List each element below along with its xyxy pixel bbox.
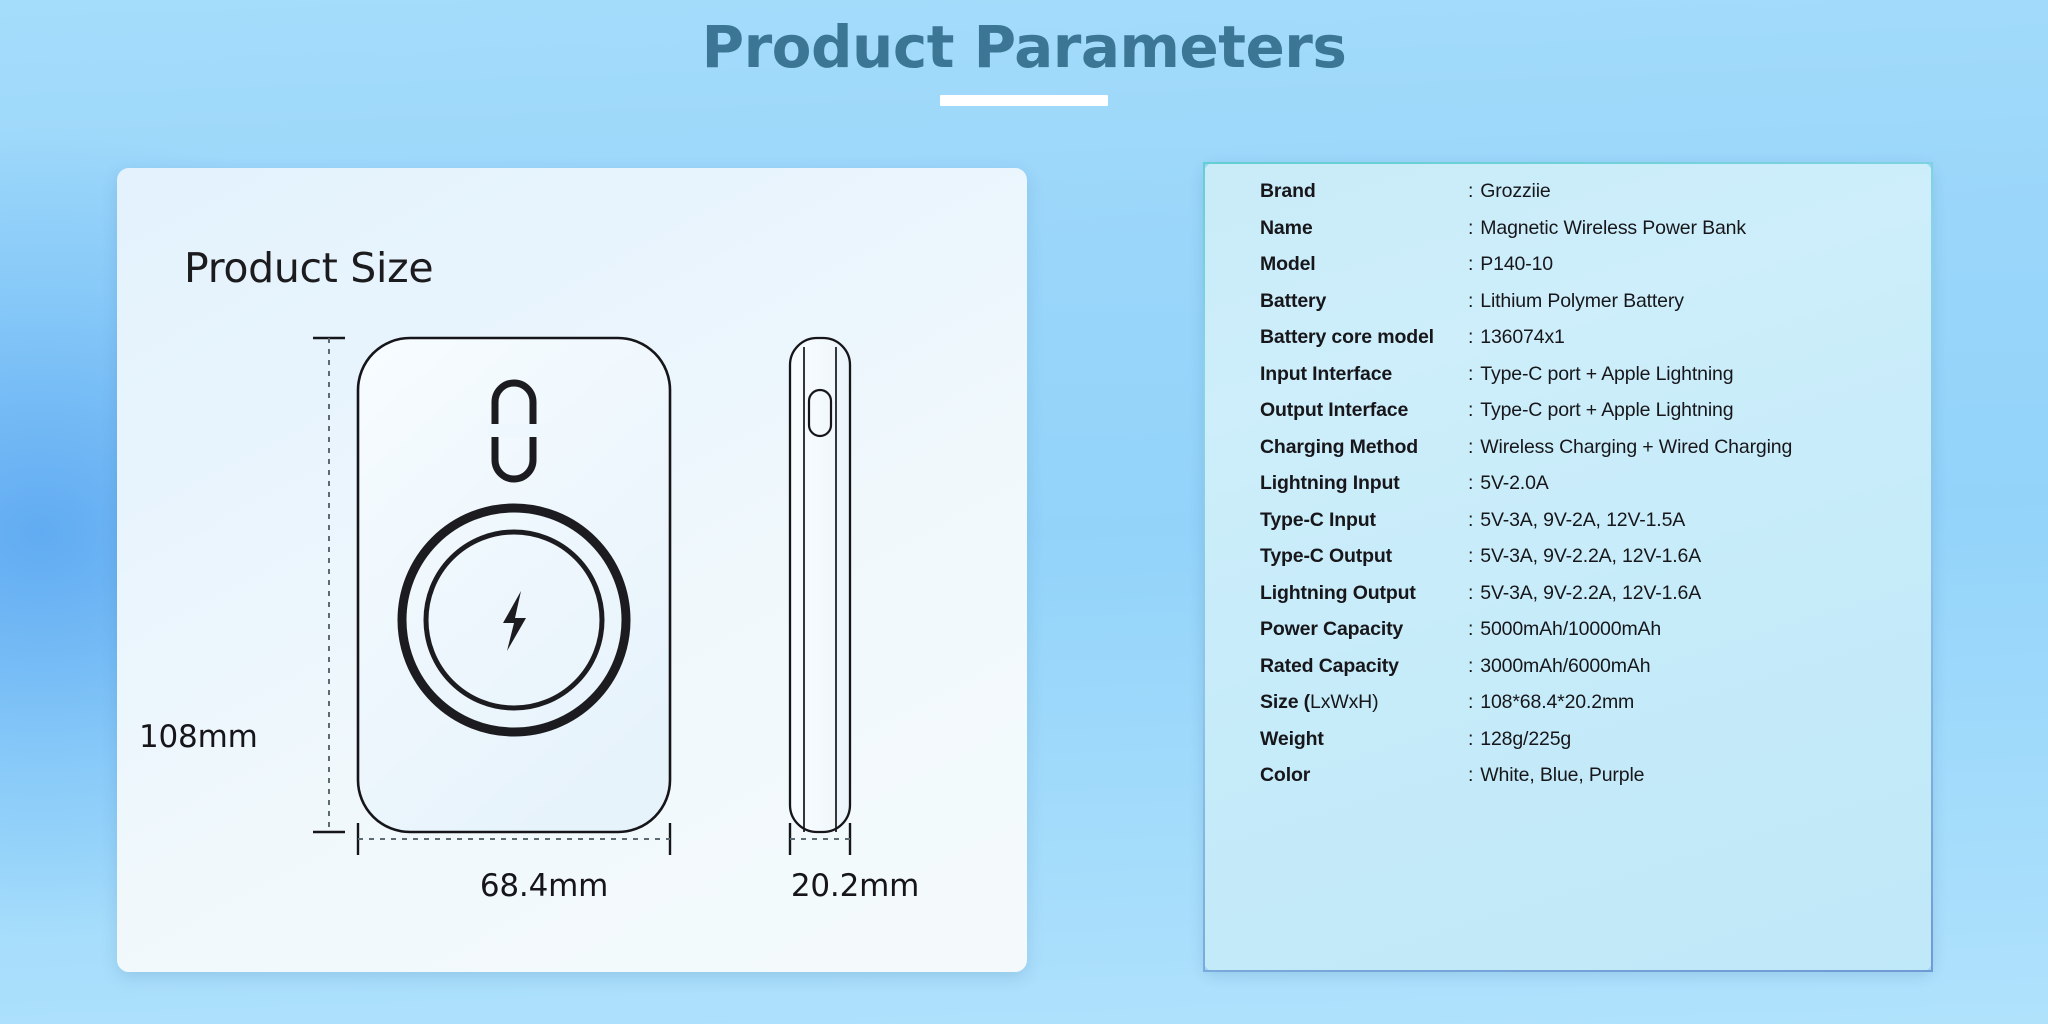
parameter-value-text: 5V-3A, 9V-2.2A, 12V-1.6A — [1480, 582, 1701, 604]
parameter-separator: : — [1468, 691, 1473, 713]
parameter-value-text: 128g/225g — [1480, 728, 1571, 750]
parameter-separator: : — [1468, 253, 1473, 275]
parameter-label: Brand — [1260, 180, 1468, 203]
parameter-separator: : — [1468, 472, 1473, 494]
parameter-row: Output Interface:Type-C port + Apple Lig… — [1260, 399, 1920, 436]
parameter-row: Weight:128g/225g — [1260, 728, 1920, 765]
parameter-label: Output Interface — [1260, 399, 1468, 422]
power-bank-side-view — [790, 338, 850, 832]
parameter-separator: : — [1468, 363, 1473, 385]
parameter-separator: : — [1468, 582, 1473, 604]
parameter-label: Battery — [1260, 290, 1468, 313]
parameter-label: Weight — [1260, 728, 1468, 751]
power-bank-front-view — [358, 338, 670, 832]
product-size-diagram — [117, 168, 1027, 972]
parameter-separator: : — [1468, 618, 1473, 640]
product-size-card: Product Size — [117, 168, 1027, 972]
parameter-row: Size (LxWxH):108*68.4*20.2mm — [1260, 691, 1920, 728]
parameter-separator: : — [1468, 545, 1473, 567]
parameter-value: :Magnetic Wireless Power Bank — [1468, 217, 1746, 240]
parameter-separator: : — [1468, 290, 1473, 312]
parameter-row: Type-C Output:5V-3A, 9V-2.2A, 12V-1.6A — [1260, 545, 1920, 582]
parameter-value: :5V-3A, 9V-2A, 12V-1.5A — [1468, 509, 1685, 532]
parameter-row: Rated Capacity:3000mAh/6000mAh — [1260, 655, 1920, 692]
parameter-value-text: 5V-3A, 9V-2.2A, 12V-1.6A — [1480, 545, 1701, 567]
parameter-row: Battery core model:136074x1 — [1260, 326, 1920, 363]
parameter-label: Battery core model — [1260, 326, 1468, 349]
parameter-separator: : — [1468, 655, 1473, 677]
depth-dimension-label: 20.2mm — [764, 868, 946, 904]
parameter-separator: : — [1468, 764, 1473, 786]
parameter-separator: : — [1468, 728, 1473, 750]
parameter-label-suffix: LxWxH) — [1310, 691, 1378, 713]
parameter-value: :Type-C port + Apple Lightning — [1468, 399, 1733, 422]
height-dimension-label: 108mm — [139, 719, 258, 755]
parameter-separator: : — [1468, 217, 1473, 239]
parameter-row: Input Interface:Type-C port + Apple Ligh… — [1260, 363, 1920, 400]
parameter-value-text: 5000mAh/10000mAh — [1480, 618, 1661, 640]
parameter-value: :Grozziie — [1468, 180, 1551, 203]
parameter-row: Lightning Input:5V-2.0A — [1260, 472, 1920, 509]
parameter-row: Color:White, Blue, Purple — [1260, 764, 1920, 801]
parameter-label: Lightning Output — [1260, 582, 1468, 605]
parameter-value-text: Lithium Polymer Battery — [1480, 290, 1684, 312]
parameter-value: :P140-10 — [1468, 253, 1553, 276]
parameter-value: :108*68.4*20.2mm — [1468, 691, 1634, 714]
parameter-value-text: 108*68.4*20.2mm — [1480, 691, 1634, 713]
parameter-row: Brand:Grozziie — [1260, 180, 1920, 217]
parameter-value-text: Type-C port + Apple Lightning — [1480, 363, 1733, 385]
parameter-value: :Lithium Polymer Battery — [1468, 290, 1684, 313]
parameter-label: Lightning Input — [1260, 472, 1468, 495]
parameter-label: Model — [1260, 253, 1468, 276]
parameter-value-text: P140-10 — [1480, 253, 1553, 275]
parameter-value: :Wireless Charging + Wired Charging — [1468, 436, 1792, 459]
parameter-value-text: Type-C port + Apple Lightning — [1480, 399, 1733, 421]
parameter-row: Type-C Input:5V-3A, 9V-2A, 12V-1.5A — [1260, 509, 1920, 546]
parameter-label: Charging Method — [1260, 436, 1468, 459]
parameter-label: Power Capacity — [1260, 618, 1468, 641]
parameter-row: Lightning Output:5V-3A, 9V-2.2A, 12V-1.6… — [1260, 582, 1920, 619]
parameter-label: Input Interface — [1260, 363, 1468, 386]
parameter-row: Model:P140-10 — [1260, 253, 1920, 290]
parameter-value-text: 136074x1 — [1480, 326, 1564, 348]
product-parameters-card: Brand:GrozziieName:Magnetic Wireless Pow… — [1203, 162, 1933, 972]
page-header: Product Parameters — [0, 14, 2048, 106]
parameter-value: :5V-3A, 9V-2.2A, 12V-1.6A — [1468, 545, 1701, 568]
parameter-value: :White, Blue, Purple — [1468, 764, 1644, 787]
parameter-row: Name:Magnetic Wireless Power Bank — [1260, 217, 1920, 254]
parameter-row: Charging Method:Wireless Charging + Wire… — [1260, 436, 1920, 473]
parameter-label: Color — [1260, 764, 1468, 787]
width-dimension-label: 68.4mm — [388, 868, 700, 904]
parameter-value-text: 5V-2.0A — [1480, 472, 1548, 494]
parameter-value: :Type-C port + Apple Lightning — [1468, 363, 1733, 386]
parameter-row: Battery:Lithium Polymer Battery — [1260, 290, 1920, 327]
parameter-separator: : — [1468, 326, 1473, 348]
parameter-value-text: Magnetic Wireless Power Bank — [1480, 217, 1746, 239]
parameter-separator: : — [1468, 180, 1473, 202]
parameter-value: :5V-3A, 9V-2.2A, 12V-1.6A — [1468, 582, 1701, 605]
parameter-label: Type-C Output — [1260, 545, 1468, 568]
parameters-table: Brand:GrozziieName:Magnetic Wireless Pow… — [1260, 180, 1920, 801]
title-underline-accent — [940, 95, 1108, 106]
parameter-value: :3000mAh/6000mAh — [1468, 655, 1650, 678]
parameter-value: :128g/225g — [1468, 728, 1571, 751]
parameter-label: Name — [1260, 217, 1468, 240]
parameter-value-text: Wireless Charging + Wired Charging — [1480, 436, 1792, 458]
parameter-value: :136074x1 — [1468, 326, 1565, 349]
parameter-separator: : — [1468, 436, 1473, 458]
parameter-value-text: Grozziie — [1480, 180, 1550, 202]
parameter-separator: : — [1468, 509, 1473, 531]
parameter-value-text: White, Blue, Purple — [1480, 764, 1644, 786]
parameter-value-text: 5V-3A, 9V-2A, 12V-1.5A — [1480, 509, 1685, 531]
parameter-label: Rated Capacity — [1260, 655, 1468, 678]
parameter-row: Power Capacity:5000mAh/10000mAh — [1260, 618, 1920, 655]
parameter-label: Type-C Input — [1260, 509, 1468, 532]
parameter-value: :5000mAh/10000mAh — [1468, 618, 1661, 641]
page-title: Product Parameters — [0, 14, 2048, 81]
height-dimension-line — [313, 338, 345, 832]
parameter-value-text: 3000mAh/6000mAh — [1480, 655, 1650, 677]
parameter-separator: : — [1468, 399, 1473, 421]
parameter-label: Size (LxWxH) — [1260, 691, 1468, 714]
parameter-value: :5V-2.0A — [1468, 472, 1549, 495]
